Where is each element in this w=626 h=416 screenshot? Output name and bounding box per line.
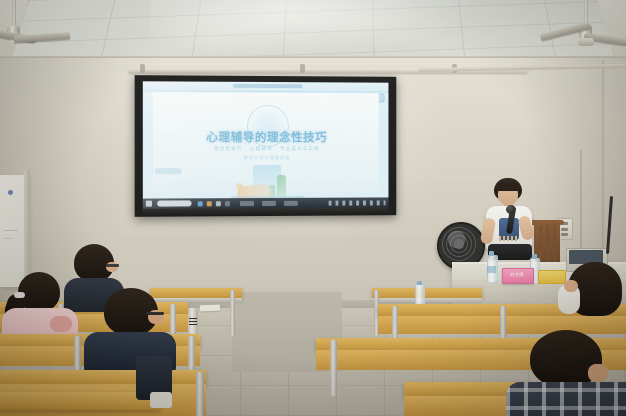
projection-screen: 心理辅导的理念性技巧 理念性技巧 · 心理辅导 · 专业成长与实践 讲师分享与课… bbox=[135, 75, 397, 217]
fan-hub bbox=[454, 239, 464, 249]
search-input[interactable] bbox=[157, 200, 192, 206]
presenter-shirt-text bbox=[499, 236, 519, 241]
student-hand bbox=[564, 280, 578, 292]
whiteboard-marking bbox=[4, 230, 18, 231]
desk-leg bbox=[196, 372, 204, 416]
presenter-fringe bbox=[496, 183, 520, 191]
projected-desktop: 心理辅导的理念性技巧 理念性技巧 · 心理辅导 · 专业成长与实践 讲师分享与课… bbox=[143, 81, 389, 208]
presentation-toolbar-pill bbox=[232, 84, 302, 88]
slide-title: 心理辅导的理念性技巧 bbox=[153, 129, 379, 145]
student-arm bbox=[50, 316, 72, 332]
student-right bbox=[558, 262, 626, 326]
student-ear bbox=[588, 364, 608, 382]
projection-surface: 心理辅导的理念性技巧 理念性技巧 · 心理辅导 · 专业成长与实践 讲师分享与课… bbox=[143, 81, 389, 208]
pipe-clip bbox=[300, 64, 305, 73]
glasses-icon bbox=[146, 312, 164, 315]
slide-subtitle-line-2: 讲师分享与课堂交流 bbox=[153, 155, 379, 161]
hair-tie bbox=[14, 292, 25, 298]
microphone-head-icon bbox=[506, 205, 516, 214]
taskbar-app-icon[interactable] bbox=[198, 201, 203, 206]
bottle-label bbox=[487, 266, 496, 273]
bottle-cap bbox=[417, 281, 422, 285]
desk-leg bbox=[330, 340, 337, 396]
bottle-cap bbox=[489, 251, 494, 256]
classroom-scene: 心理辅导的理念性技巧 理念性技巧 · 心理辅导 · 专业成长与实践 讲师分享与课… bbox=[0, 0, 626, 416]
system-tray[interactable] bbox=[329, 200, 386, 205]
slide-illustration-person-head bbox=[236, 183, 243, 190]
pipe-clip bbox=[140, 64, 145, 73]
taskbar-app-icon[interactable] bbox=[225, 201, 230, 206]
bottle-cap bbox=[532, 254, 537, 259]
start-button-icon[interactable] bbox=[146, 201, 152, 207]
ceiling-fan-left bbox=[0, 0, 70, 60]
taskbar-app-icon[interactable] bbox=[207, 201, 212, 206]
slide-corner-tag bbox=[155, 168, 181, 174]
slide-subtitle-line-1: 理念性技巧 · 心理辅导 · 专业成长与实践 bbox=[153, 146, 379, 152]
student-torso bbox=[506, 382, 626, 416]
student-front-right bbox=[506, 330, 626, 416]
white-object bbox=[150, 392, 172, 408]
ceiling-light-sheen bbox=[150, 0, 480, 60]
whiteboard-magnet bbox=[8, 190, 13, 195]
taskbar-window-button[interactable] bbox=[284, 201, 298, 206]
taskbar-window-button[interactable] bbox=[240, 201, 254, 206]
slide-illustration-plant bbox=[277, 175, 286, 197]
ceiling-fan-right bbox=[556, 0, 626, 62]
name-card-text: 姓名牌 bbox=[502, 272, 532, 278]
slide-canvas: 心理辅导的理念性技巧 理念性技巧 · 心理辅导 · 专业成长与实践 讲师分享与课… bbox=[153, 92, 379, 192]
taskbar-app-icon[interactable] bbox=[216, 201, 221, 206]
thermos-band bbox=[189, 316, 197, 325]
taskbar-window-button[interactable] bbox=[262, 201, 276, 206]
desk-rail bbox=[372, 298, 482, 303]
desk-leg bbox=[230, 290, 235, 336]
paper-sheet[interactable] bbox=[200, 305, 220, 312]
whiteboard-marking bbox=[4, 238, 13, 239]
glasses-icon bbox=[106, 264, 119, 267]
screen-bottom-bar bbox=[143, 207, 389, 216]
